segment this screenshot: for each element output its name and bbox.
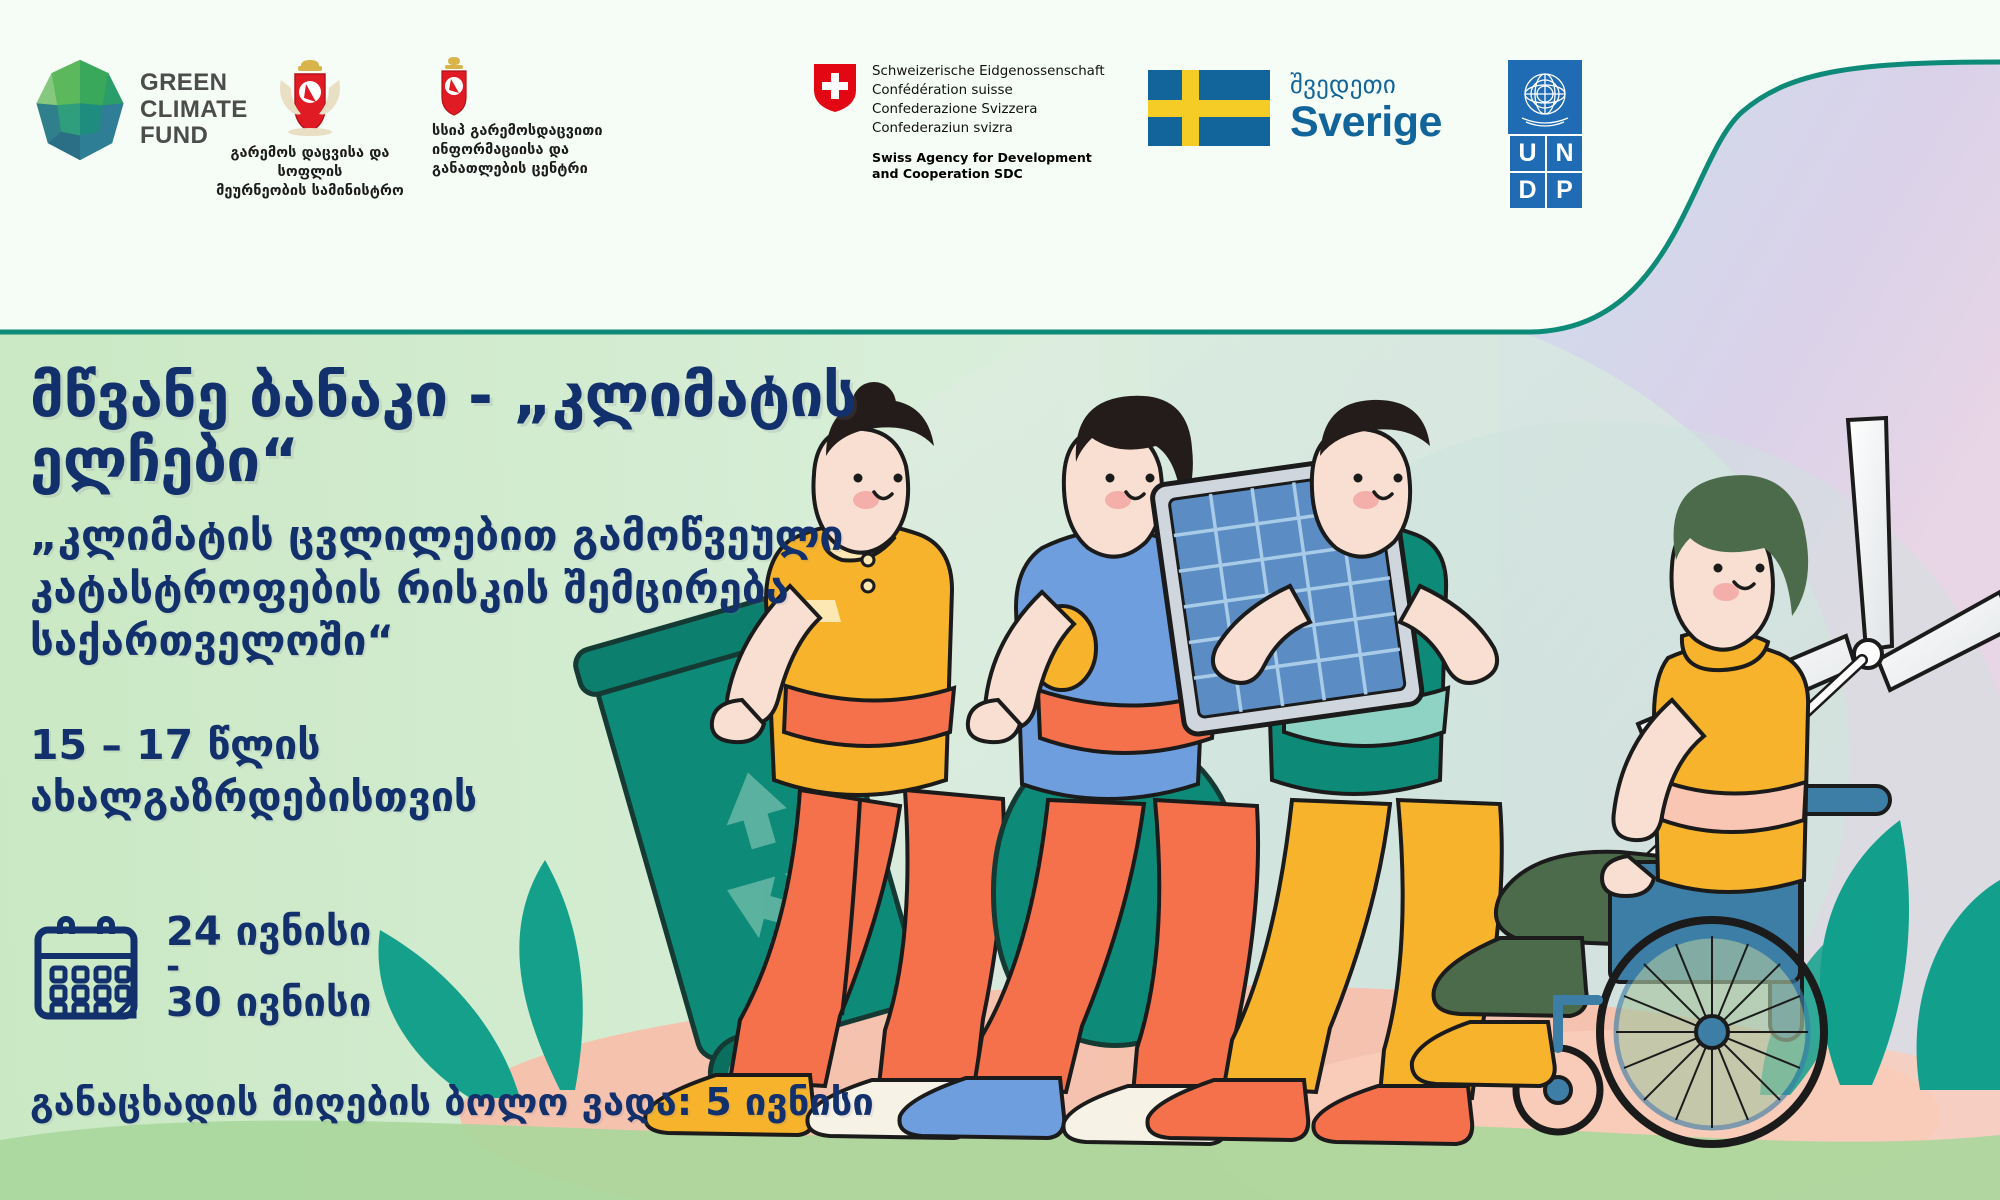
swiss-text-block: Schweizerische Eidgenossenschaft Confédé… <box>872 62 1105 182</box>
undp-letter-d: D <box>1508 171 1545 208</box>
infocenter-label: სსიპ გარემოსდაცვითი ინფორმაციისა და განა… <box>432 122 607 179</box>
undp-letter-n: N <box>1545 134 1582 171</box>
undp-letter-p: P <box>1545 171 1582 208</box>
logo-swiss-confederation: Schweizerische Eidgenossenschaft Confédé… <box>812 62 1105 182</box>
date-separator: - <box>166 954 371 981</box>
gcf-mark-icon <box>32 58 128 162</box>
infocenter-line-3: განათლების ცენტრი <box>432 160 607 179</box>
infocenter-line-1: სსიპ გარემოსდაცვითი <box>432 122 607 141</box>
partner-logos: GREEN CLIMATE FUND გარემოს დაცვისა და სო… <box>0 0 1600 260</box>
age-range: 15 – 17 წლის ახალგაზრდებისთვის <box>30 720 1100 823</box>
sweden-wordmark: შვედეთი Sverige <box>1290 72 1442 144</box>
date-end: 30 ივნისი <box>166 981 371 1026</box>
age-range-line-1: 15 – 17 წლის <box>30 720 1100 772</box>
event-dates-row: 24 ივნისი - 30 ივნისი <box>30 910 1100 1026</box>
swiss-line-de: Schweizerische Eidgenossenschaft <box>872 62 1105 81</box>
date-start: 24 ივნისი <box>166 910 371 955</box>
un-emblem-icon <box>1508 60 1582 134</box>
undp-letters: U N D P <box>1508 134 1582 208</box>
application-deadline: განაცხადის მიღების ბოლო ვადა: 5 ივნისი <box>30 1080 1100 1126</box>
georgia-coat-of-arms-icon <box>273 54 347 140</box>
subtitle-line-2: კატასტროფების რისკის შემცირება <box>30 563 1100 616</box>
swiss-shield-icon <box>812 62 858 112</box>
event-date-range: 24 ივნისი - 30 ივნისი <box>166 910 371 1026</box>
swiss-line-fr: Confédération suisse <box>872 81 1105 100</box>
sweden-label-latin: Sverige <box>1290 101 1442 144</box>
swiss-line-rm: Confederaziun svizra <box>872 119 1105 138</box>
swiss-agency-line-1: Swiss Agency for Development <box>872 150 1105 166</box>
swiss-line-it: Confederazione Svizzera <box>872 100 1105 119</box>
main-content: მწვანე ბანაკი - „კლიმატის ელჩები“ „კლიმა… <box>0 336 1100 1125</box>
ministry-line-1: გარემოს დაცვისა და სოფლის <box>215 144 405 182</box>
logo-info-education-center: სსიპ გარემოსდაცვითი ინფორმაციისა და განა… <box>432 54 607 179</box>
ministry-line-2: მეურნეობის სამინისტრო <box>215 182 405 201</box>
sweden-flag-icon <box>1148 70 1270 146</box>
logo-undp: U N D P <box>1508 60 1582 208</box>
ministry-label: გარემოს დაცვისა და სოფლის მეურნეობის სამ… <box>215 144 405 201</box>
sweden-label-georgian: შვედეთი <box>1290 72 1442 97</box>
subtitle-line-3: საქართველოში“ <box>30 615 1100 668</box>
swiss-languages: Schweizerische Eidgenossenschaft Confédé… <box>872 62 1105 138</box>
project-subtitle: „კლიმატის ცვლილებით გამოწვეული კატასტროფ… <box>30 510 1100 669</box>
calendar-icon <box>30 912 142 1024</box>
logo-ministry-environment: გარემოს დაცვისა და სოფლის მეურნეობის სამ… <box>215 54 405 201</box>
age-range-line-2: ახალგაზრდებისთვის <box>30 772 1100 824</box>
page-title: მწვანე ბანაკი - „კლიმატის ელჩები“ <box>30 364 1100 494</box>
subtitle-line-1: „კლიმატის ცვლილებით გამოწვეული <box>30 510 1100 563</box>
swiss-agency-label: Swiss Agency for Development and Coopera… <box>872 150 1105 182</box>
georgia-coat-of-arms-small-icon <box>432 54 476 116</box>
infocenter-line-2: ინფორმაციისა და <box>432 141 607 160</box>
poster-canvas: GREEN CLIMATE FUND გარემოს დაცვისა და სო… <box>0 0 2000 1200</box>
logo-sweden: შვედეთი Sverige <box>1148 70 1442 146</box>
undp-letter-u: U <box>1508 134 1545 171</box>
swiss-agency-line-2: and Cooperation SDC <box>872 166 1105 182</box>
